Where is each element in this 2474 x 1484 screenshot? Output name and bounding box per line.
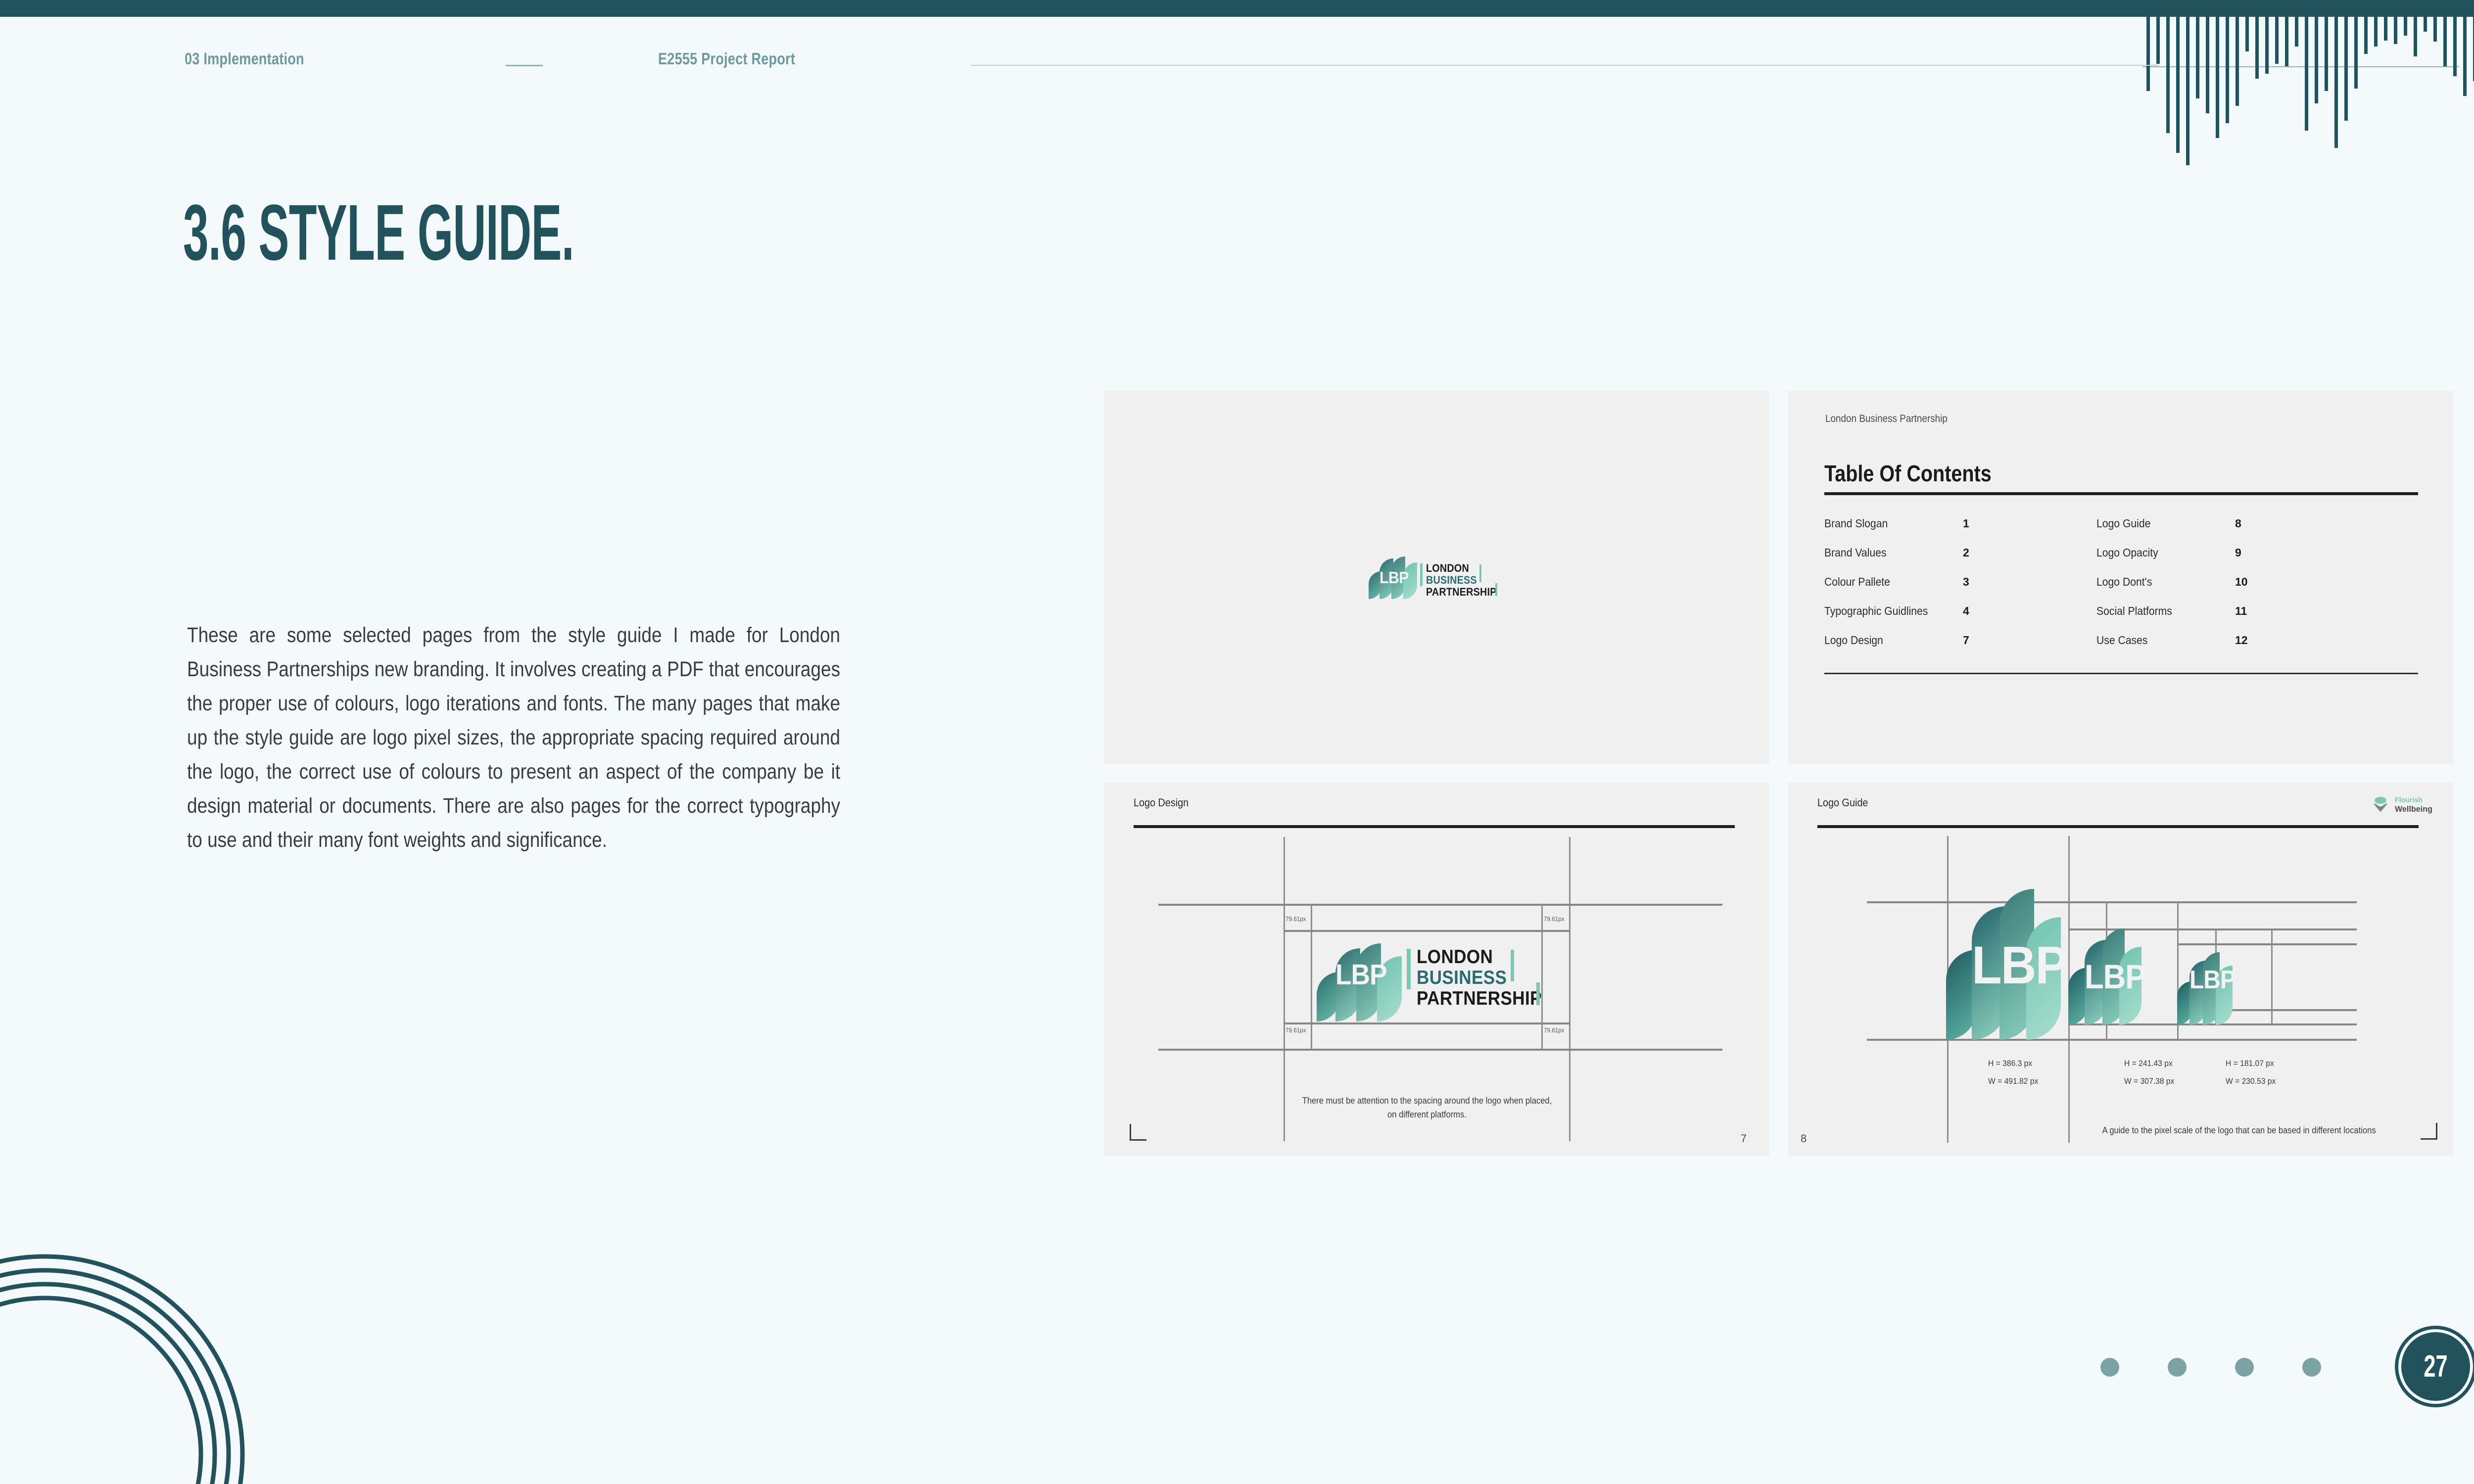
toc-entry-label: Typographic Guidlines xyxy=(1824,604,1928,618)
size-readout-small: H = 181.07 px W = 230.53 px xyxy=(2226,1059,2276,1086)
logo-guide-rule xyxy=(1817,825,2419,828)
lbp-monogram: LBP xyxy=(1380,569,1409,586)
crop-mark-bottom-left xyxy=(1130,1124,1146,1141)
toc-entry-label: Logo Design xyxy=(1824,634,1883,647)
spacing-label-bottom-right: 79.61px xyxy=(1544,1026,1565,1034)
size-readout-large: H = 386.3 px W = 491.82 px xyxy=(1988,1059,2038,1086)
spacing-label-top-left: 79.61px xyxy=(1285,915,1306,923)
guide-hline-inner-bottom xyxy=(1284,1022,1570,1024)
guide-hline-inner-top xyxy=(1284,930,1570,932)
logo-bar-1 xyxy=(1407,949,1411,989)
toc-entry-label: Brand Slogan xyxy=(1824,517,1888,530)
lbp-monogram: LBP xyxy=(1972,938,2067,992)
wordmark-business: BUSINESS xyxy=(1426,574,1477,586)
toc-entry-page: 2 xyxy=(1963,546,1969,559)
style-guide-card-logo-design[interactable]: Logo Design 79.61px 79.61px 79.61px 79.6… xyxy=(1104,783,1769,1156)
size-width-label: W = 307.38 px xyxy=(2124,1076,2174,1086)
wellbeing-label: Wellbeing xyxy=(2395,804,2432,814)
toc-entry-label: Logo Guide xyxy=(2096,517,2150,530)
lbp-mark-small: LBP xyxy=(2177,943,2236,1025)
logo-guide-page-number: 8 xyxy=(1801,1132,1807,1145)
toc-rule-bottom xyxy=(1824,673,2418,674)
page-number: 27 xyxy=(2407,1326,2465,1407)
size-height-label: H = 241.43 px xyxy=(2124,1059,2174,1068)
lbp-mark-large: LBP xyxy=(1946,889,2070,1040)
toc-entry-page: 12 xyxy=(2235,634,2248,647)
page-dot-3[interactable] xyxy=(2235,1358,2254,1377)
style-guide-card-logo-guide[interactable]: Logo Guide Flourish Wellbeing LBP LBP xyxy=(1788,783,2453,1156)
guide-vline-inner-left xyxy=(1311,904,1312,1051)
logo-design-page-number: 7 xyxy=(1741,1132,1747,1145)
spacing-label-bottom-left: 79.61px xyxy=(1285,1026,1306,1034)
wordmark-partnership: PARTNERSHIP xyxy=(1426,586,1497,598)
logo-design-rule xyxy=(1134,825,1735,828)
size-width-label: W = 491.82 px xyxy=(1988,1076,2038,1086)
crop-mark-bottom-right xyxy=(2421,1123,2437,1140)
header-divider-short xyxy=(506,65,543,66)
logo-bar-3 xyxy=(1536,982,1540,1005)
toc-entry-label: Social Platforms xyxy=(2096,604,2172,618)
flourish-wellbeing-badge: Flourish Wellbeing xyxy=(2370,794,2429,816)
guide-vline-outer-right xyxy=(1569,837,1570,1141)
logo-bar-2 xyxy=(1479,564,1481,582)
logo-bar-2 xyxy=(1511,950,1514,981)
page-number-badge: 27 xyxy=(2395,1326,2474,1407)
lbp-monogram: LBP xyxy=(2085,960,2145,994)
logo-guide-kicker: Logo Guide xyxy=(1817,796,1868,809)
lbp-mark-medium: LBP xyxy=(2068,928,2147,1025)
toc-entry-page: 1 xyxy=(1963,517,1969,530)
guide-hline-outer-bottom xyxy=(1158,1049,1722,1051)
toc-entry-label: Logo Opacity xyxy=(2096,546,2158,559)
flourish-label: Flourish xyxy=(2395,796,2423,804)
toc-entry-page: 11 xyxy=(2235,604,2247,618)
toc-entry-page: 9 xyxy=(2235,546,2241,559)
page-dot-1[interactable] xyxy=(2100,1358,2119,1377)
page-dot-2[interactable] xyxy=(2168,1358,2187,1377)
toc-entry-page: 7 xyxy=(1963,634,1969,647)
style-guide-card-logo[interactable]: LBP LONDON BUSINESS PARTNERSHIP xyxy=(1104,391,1769,764)
toc-entry-label: Colour Pallete xyxy=(1824,575,1890,589)
wordmark-business: BUSINESS xyxy=(1417,968,1507,988)
guide-hline-large-top xyxy=(1867,901,2357,903)
wordmark-partnership: PARTNERSHIP xyxy=(1417,988,1542,1009)
page-dot-4[interactable] xyxy=(2302,1358,2321,1377)
lbp-monogram: LBP xyxy=(2189,967,2236,993)
header-section-label: 03 Implementation xyxy=(185,49,304,68)
lbp-leaf-mark: LBP LONDON BUSINESS PARTNERSHIP xyxy=(1369,556,1448,599)
toc-entry-page: 3 xyxy=(1963,575,1969,589)
barcode-decoration xyxy=(2142,17,2474,185)
guide-hline-large-bottom xyxy=(1867,1039,2357,1041)
logo-guide-caption: A guide to the pixel scale of the logo t… xyxy=(2102,1124,2394,1138)
lbp-logo-lockup: LBP LONDON BUSINESS PARTNERSHIP xyxy=(1317,935,1544,1021)
toc-entry-page: 10 xyxy=(2235,575,2248,589)
top-accent-bar xyxy=(0,0,2474,17)
style-guide-card-toc[interactable]: London Business Partnership Table Of Con… xyxy=(1788,391,2453,764)
logo-design-kicker: Logo Design xyxy=(1134,796,1189,809)
lbp-logo-lockup: LBP LONDON BUSINESS PARTNERSHIP xyxy=(1369,556,1448,599)
size-width-label: W = 230.53 px xyxy=(2226,1076,2276,1086)
toc-entry-label: Brand Values xyxy=(1824,546,1886,559)
logo-design-caption: There must be attention to the spacing a… xyxy=(1302,1094,1552,1122)
guide-vline-outer-left xyxy=(1284,837,1285,1141)
plant-leaf-icon xyxy=(2370,794,2391,815)
page-title: 3.6 STYLE GUIDE. xyxy=(183,193,574,272)
wordmark-london: LONDON xyxy=(1426,562,1469,574)
wordmark-london: LONDON xyxy=(1417,947,1493,967)
lbp-monogram: LBP xyxy=(1335,961,1387,989)
guide-hline-outer-top xyxy=(1158,904,1722,906)
header-divider-long xyxy=(971,65,2159,66)
toc-entry-label: Use Cases xyxy=(2096,634,2147,647)
size-height-label: H = 386.3 px xyxy=(1988,1059,2038,1068)
logo-bar-1 xyxy=(1420,563,1423,586)
toc-rule-top xyxy=(1824,492,2418,495)
guide-vline-f xyxy=(2271,928,2273,1025)
toc-kicker: London Business Partnership xyxy=(1825,413,1948,425)
size-height-label: H = 181.07 px xyxy=(2226,1059,2276,1068)
toc-entry-page: 4 xyxy=(1963,604,1969,618)
logo-bar-3 xyxy=(1495,583,1497,596)
header-project-title: E2555 Project Report xyxy=(658,49,795,68)
page-header: 03 Implementation E2555 Project Report xyxy=(0,49,2474,79)
body-paragraph: These are some selected pages from the s… xyxy=(187,618,840,857)
toc-entry-label: Logo Dont's xyxy=(2096,575,2152,589)
spacing-label-top-right: 79.61px xyxy=(1544,915,1565,923)
decorative-arcs xyxy=(0,1153,475,1484)
toc-heading: Table Of Contents xyxy=(1824,460,1992,487)
toc-entry-page: 8 xyxy=(2235,517,2241,530)
size-readout-medium: H = 241.43 px W = 307.38 px xyxy=(2124,1059,2174,1086)
